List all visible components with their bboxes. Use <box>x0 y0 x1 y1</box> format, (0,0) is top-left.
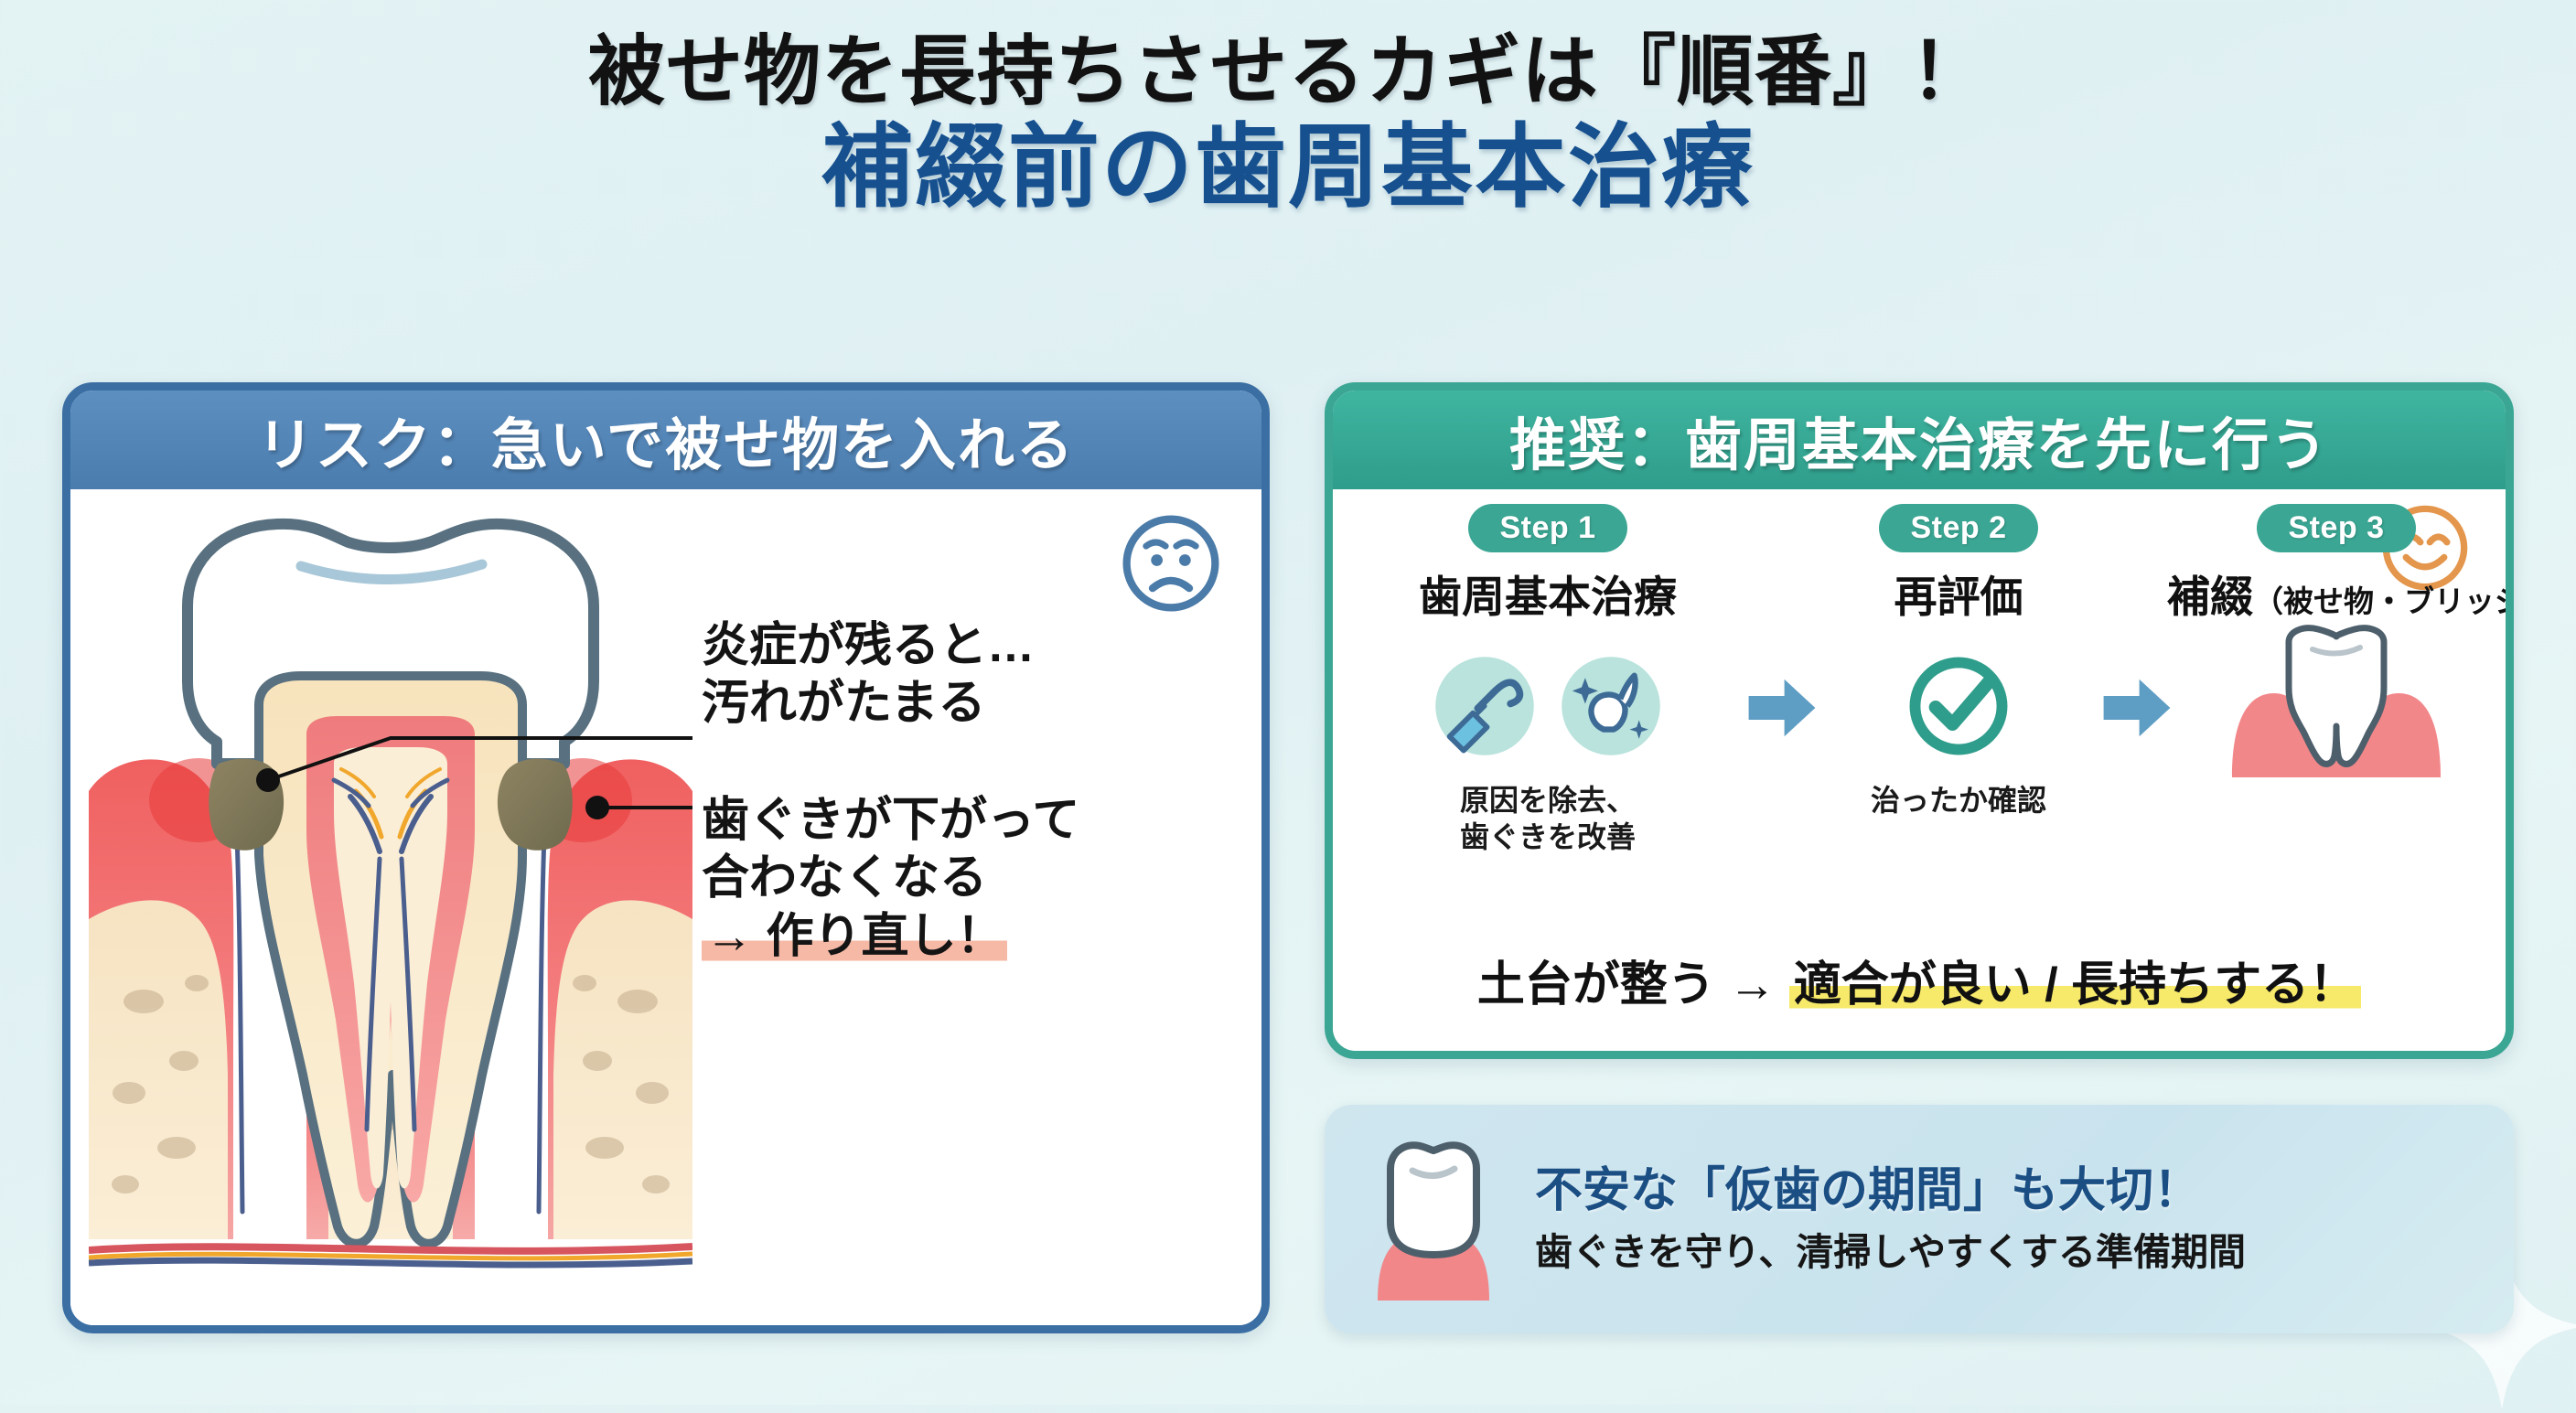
arrow-right-icon <box>1746 674 1818 742</box>
step-1-icons <box>1351 637 1744 775</box>
risk-callouts: 炎症が残ると… 汚れがたまる 歯ぐきが下がって 合わなくなる → 作り直し！ <box>702 617 1241 966</box>
banner-text: 不安な「仮歯の期間」も大切！ 歯ぐきを守り、清掃しやすくする準備期間 <box>1535 1162 2483 1276</box>
temporary-crown-banner: 不安な「仮歯の期間」も大切！ 歯ぐきを守り、清掃しやすくする準備期間 <box>1325 1105 2514 1333</box>
risk-panel-heading: リスク：急いで被せ物を入れる <box>70 391 1261 489</box>
foundation-statement: 土台が整う → 適合が良い / 長持ちする！ <box>1333 946 2506 1014</box>
step-3-title-paren: （被せ物・ブリッジ） <box>2253 584 2514 618</box>
healthy-tooth-in-gum-icon <box>2217 624 2455 779</box>
risk-callout-1-line-2: 汚れがたまる <box>702 675 1241 733</box>
risk-panel-body: 炎症が残ると… 汚れがたまる 歯ぐきが下がって 合わなくなる → 作り直し！ <box>70 489 1261 1325</box>
risk-callout-highlight: → 作り直し！ <box>702 910 1007 963</box>
risk-panel: リスク：急いで被せ物を入れる <box>62 382 1270 1333</box>
treatment-steps: Step 1 歯周基本治療 <box>1333 495 2506 888</box>
risk-callout-1: 炎症が残ると… 汚れがたまる <box>702 617 1241 733</box>
step-2-icons <box>1821 637 2096 775</box>
step-3-icons <box>2167 628 2506 775</box>
step-3: Step 3 補綴（被せ物・ブリッジ） <box>2167 504 2506 775</box>
step-1-badge: Step 1 <box>1468 504 1626 552</box>
recommendation-panel-heading: 推奨：歯周基本治療を先に行う <box>1333 391 2506 489</box>
worried-face-icon <box>1117 509 1225 617</box>
step-3-badge: Step 3 <box>2257 504 2415 552</box>
tooth-with-gum-icon <box>1356 1132 1511 1306</box>
risk-callout-1-line-1: 炎症が残ると… <box>702 617 1241 675</box>
step-2-title: 再評価 <box>1821 562 2096 625</box>
step-1: Step 1 歯周基本治療 <box>1351 504 1744 856</box>
risk-callout-2-line-3: → 作り直し！ <box>702 908 1241 966</box>
step-2: Step 2 再評価 治ったか確認 <box>1821 504 2096 819</box>
step-2-badge: Step 2 <box>1879 504 2037 552</box>
banner-title: 不安な「仮歯の期間」も大切！ <box>1535 1162 2483 1219</box>
sparkle-clean-tooth-icon <box>1552 648 1669 765</box>
recommendation-panel: 推奨：歯周基本治療を先に行う Step 1 歯周基本治療 <box>1325 382 2514 1059</box>
arrow-right-icon <box>2101 674 2173 742</box>
risk-callout-2: 歯ぐきが下がって 合わなくなる → 作り直し！ <box>702 792 1241 966</box>
foundation-prefix: 土台が整う → <box>1477 958 1789 1012</box>
risk-callout-2-line-2: 合わなくなる <box>702 850 1241 907</box>
step-3-title-main: 補綴 <box>2167 573 2253 621</box>
check-circle-icon <box>1898 646 2019 766</box>
step-2-caption-line-1: 治ったか確認 <box>1821 782 2096 819</box>
page-header: 被せ物を長持ちさせるカギは『順番』！ 補綴前の歯周基本治療 <box>0 0 2576 218</box>
step-1-title: 歯周基本治療 <box>1351 562 1744 625</box>
page-title-main: 被せ物を長持ちさせるカギは『順番』！ <box>0 31 2576 112</box>
page-title-sub: 補綴前の歯周基本治療 <box>0 117 2576 218</box>
recommendation-panel-body: Step 1 歯周基本治療 <box>1333 489 2506 1051</box>
banner-subtitle: 歯ぐきを守り、清掃しやすくする準備期間 <box>1535 1229 2483 1276</box>
risk-callout-2-line-1: 歯ぐきが下がって <box>702 792 1241 850</box>
dental-scaler-icon <box>1426 648 1543 765</box>
step-1-caption-line-2: 歯ぐきを改善 <box>1351 819 1744 855</box>
periodontal-inflammation-cross-section <box>89 489 692 1294</box>
step-3-title: 補綴（被せ物・ブリッジ） <box>2167 562 2506 625</box>
foundation-highlight: 適合が良い / 長持ちする！ <box>1789 958 2361 1012</box>
step-1-caption-line-1: 原因を除去、 <box>1351 782 1744 819</box>
